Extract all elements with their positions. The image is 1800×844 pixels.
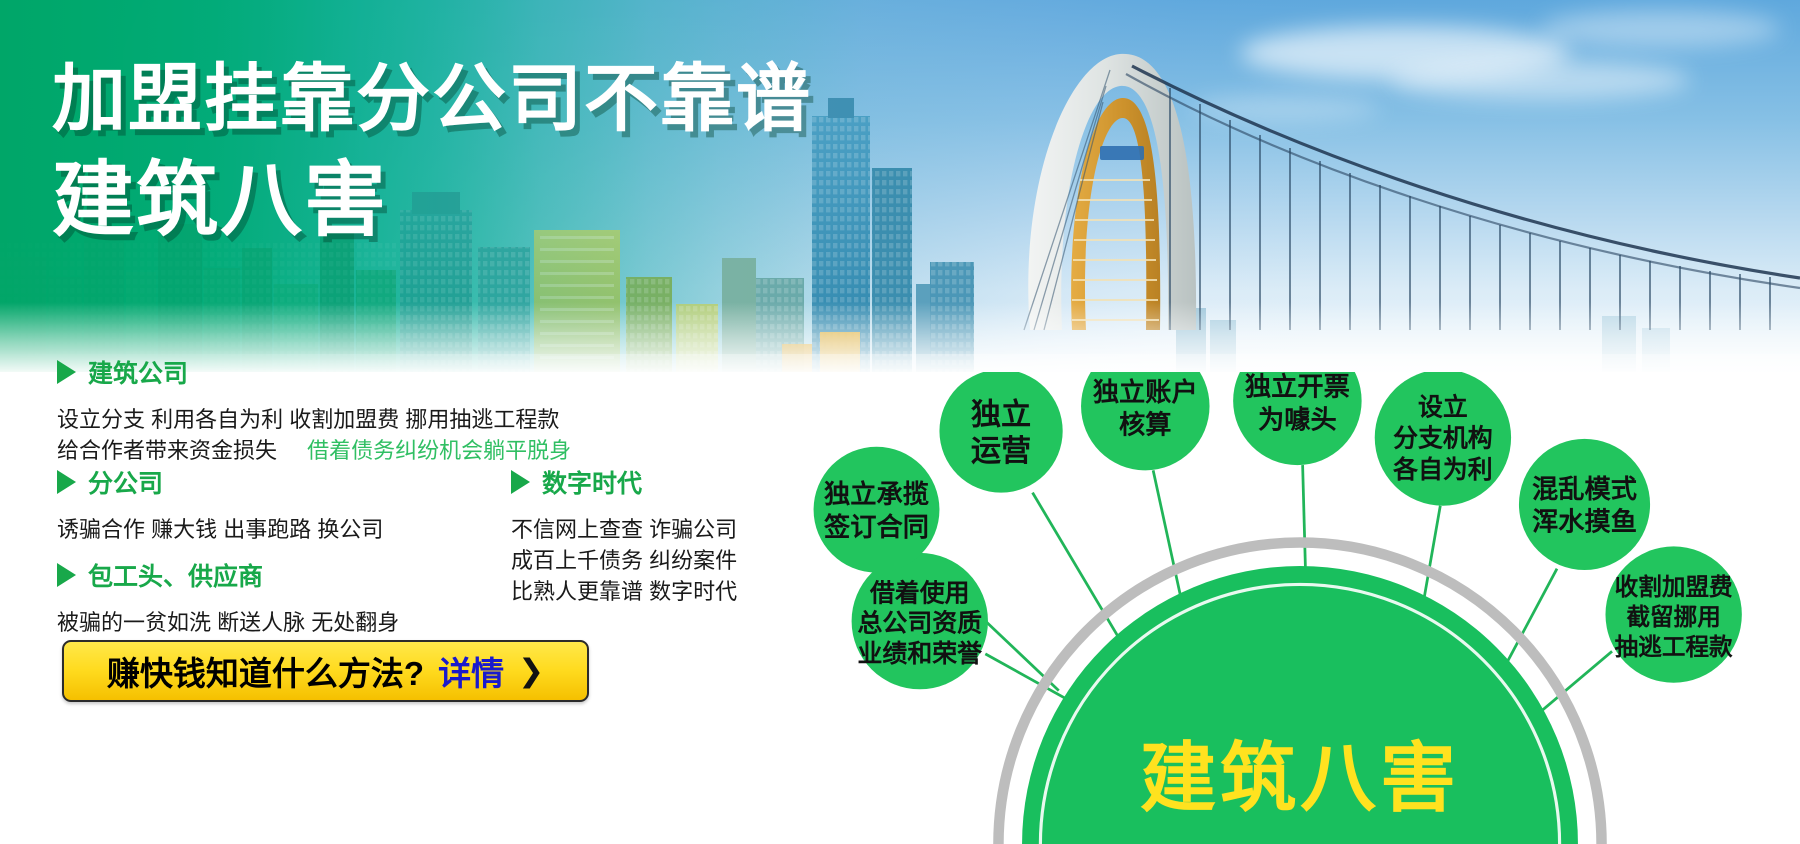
node-line: 运营 [971,434,1031,468]
node-line: 各自为利 [1392,455,1493,484]
left-content-column: 建筑公司 设立分支 利用各自为利 收割加盟费 挪用抽逃工程款 给合作者带来资金损… [0,372,800,844]
node-line: 核算 [1119,410,1171,440]
section-construction-company: 建筑公司 设立分支 利用各自为利 收割加盟费 挪用抽逃工程款 给合作者带来资金损… [57,354,571,466]
diagram-node[interactable]: 收割加盟费 截留挪用 抽逃工程款 [1605,546,1741,682]
bridge-icon [960,30,1800,350]
cta-button[interactable]: 赚快钱知道什么方法? 详情 ❯ [62,640,589,702]
section-branch-company: 分公司 诱骗合作 赚大钱 出事跑路 换公司 [57,464,383,545]
section-heading-label: 包工头、供应商 [88,557,263,593]
node-line: 业绩和荣誉 [858,639,984,668]
section-body: 诱骗合作 赚大钱 出事跑路 换公司 [57,514,383,545]
diagram-node[interactable]: 独立开票 为噱头 [1233,372,1361,465]
body-line: 成百上千债务 纠纷案件 [511,545,737,576]
body-text: 给合作者带来资金损失 [57,438,277,463]
body-text: 被骗的一贫如洗 断送人脉 无处翻身 [57,610,399,635]
triangle-right-icon [57,470,76,494]
section-heading-row: 包工头、供应商 [57,557,399,593]
hero-title-group: 加盟挂靠分公司不靠谱 建筑八害 [52,62,812,242]
node-line: 截留挪用 [1626,603,1720,631]
body-line: 诱骗合作 赚大钱 出事跑路 换公司 [57,514,383,545]
node-line: 设立 [1418,392,1468,421]
body-text-highlight: 借着债务纠纷机会躺平脱身 [307,438,571,463]
node-line: 浑水摸鱼 [1532,507,1637,537]
hero-title-line2: 建筑八害 [52,160,812,242]
diagram-canvas: 建筑八害 借着使用 总公司资质 业绩和荣誉 独立承揽 签订合同 独立 运营 独立… [800,372,1800,844]
body-line: 比熟人更靠谱 数字时代 [511,576,737,607]
node-line: 抽逃工程款 [1615,634,1733,661]
node-line: 收割加盟费 [1615,573,1733,601]
body-line: 设立分支 利用各自为利 收割加盟费 挪用抽逃工程款 [57,404,571,435]
triangle-right-icon [57,360,76,384]
construction-eight-harms-diagram: 建筑八害 借着使用 总公司资质 业绩和荣誉 独立承揽 签订合同 独立 运营 独立… [800,372,1800,844]
node-line: 为噱头 [1258,404,1337,434]
triangle-right-icon [511,470,530,494]
body-line: 给合作者带来资金损失 借着债务纠纷机会躺平脱身 [57,435,571,466]
body-text: 设立分支 利用各自为利 收割加盟费 挪用抽逃工程款 [57,407,559,432]
body-line: 不信网上查查 诈骗公司 [511,514,737,545]
diagram-node[interactable]: 混乱模式 浑水摸鱼 [1519,439,1650,570]
section-heading-row: 分公司 [57,464,383,500]
node-line: 独立承揽 [824,479,929,509]
node-line: 签订合同 [824,512,929,542]
triangle-right-icon [57,563,76,587]
section-heading-label: 建筑公司 [88,354,188,390]
section-heading-label: 分公司 [88,464,163,500]
section-body: 被骗的一贫如洗 断送人脉 无处翻身 [57,607,399,638]
node-line: 独立账户 [1093,377,1198,407]
hero-banner: 加盟挂靠分公司不靠谱 建筑八害 [0,0,1800,372]
diagram-node[interactable]: 独立账户 核算 [1081,372,1209,470]
diagram-node[interactable]: 独立 运营 [939,372,1062,493]
section-body: 设立分支 利用各自为利 收割加盟费 挪用抽逃工程款 给合作者带来资金损失 借着债… [57,404,571,466]
section-heading-row: 数字时代 [511,464,737,500]
dome-center-label: 建筑八害 [1140,737,1460,822]
body-line: 被骗的一贫如洗 断送人脉 无处翻身 [57,607,399,638]
diagram-node[interactable]: 借着使用 总公司资质 业绩和荣誉 [852,553,988,689]
chevron-right-icon: ❯ [518,653,544,689]
section-body: 不信网上查查 诈骗公司 成百上千债务 纠纷案件 比熟人更靠谱 数字时代 [511,514,737,608]
section-digital-era: 数字时代 不信网上查查 诈骗公司 成百上千债务 纠纷案件 比熟人更靠谱 数字时代 [511,464,737,608]
diagram-node[interactable]: 独立承揽 签订合同 [814,447,940,573]
section-heading-label: 数字时代 [542,464,642,500]
section-contractor-supplier: 包工头、供应商 被骗的一贫如洗 断送人脉 无处翻身 [57,557,399,638]
cta-main-label: 赚快钱知道什么方法? [107,647,424,695]
node-line: 独立开票 [1245,372,1350,402]
node-line: 混乱模式 [1532,474,1637,504]
node-line: 独立 [971,397,1031,431]
node-line: 借着使用 [869,578,970,607]
body-text: 诱骗合作 赚大钱 出事跑路 换公司 [57,517,383,542]
cta-link-label[interactable]: 详情 [438,647,504,695]
section-heading-row: 建筑公司 [57,354,571,390]
node-line: 分支机构 [1393,425,1493,453]
diagram-node[interactable]: 设立 分支机构 各自为利 [1375,372,1511,506]
node-line: 总公司资质 [858,610,983,638]
hero-title-line1: 加盟挂靠分公司不靠谱 [52,62,812,136]
